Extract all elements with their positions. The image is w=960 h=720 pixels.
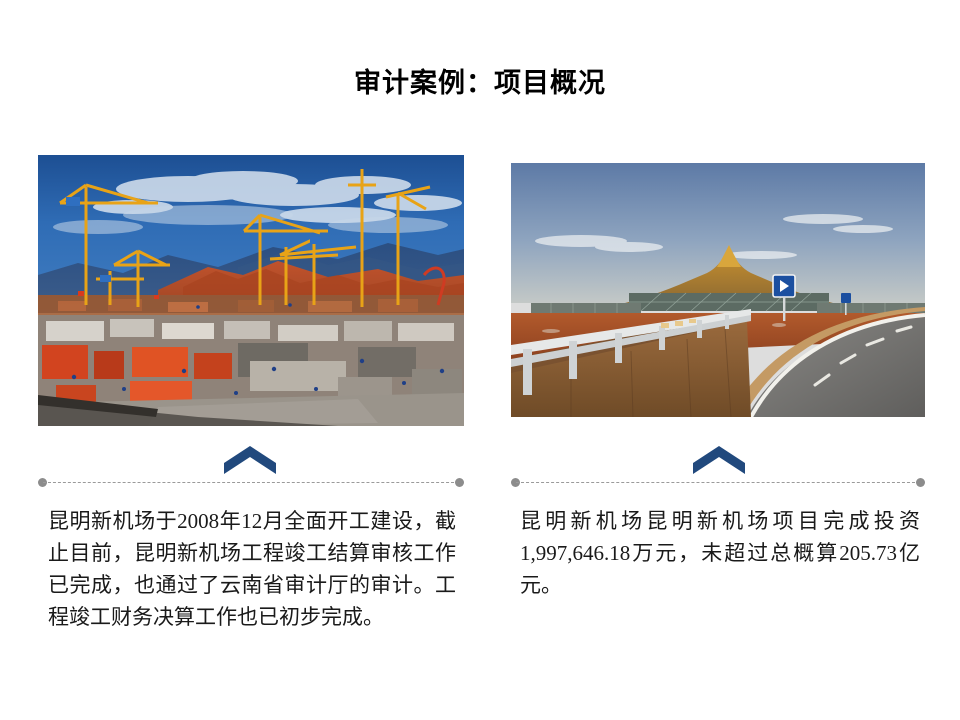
right-divider [511, 478, 925, 487]
divider-dot-right [455, 478, 464, 487]
construction-site-photo [38, 155, 464, 426]
divider-line [43, 482, 459, 483]
page-title: 审计案例：项目概况 [0, 66, 960, 100]
construction-site-illustration [38, 155, 464, 426]
divider-dot-right [916, 478, 925, 487]
left-caption-text: 昆明新机场于2008年12月全面开工建设，截止目前，昆明新机场工程竣工结算审核工… [48, 505, 456, 633]
left-divider [38, 478, 464, 487]
airport-terminal-illustration [511, 163, 925, 417]
slide: 审计案例：项目概况 [0, 0, 960, 720]
chevron-up-icon [693, 446, 745, 474]
chevron-up-icon [224, 446, 276, 474]
airport-terminal-photo [511, 163, 925, 417]
divider-line [516, 482, 920, 483]
right-caption-text: 昆明新机场昆明新机场项目完成投资1,997,646.18万元，未超过总概算205… [520, 505, 920, 601]
